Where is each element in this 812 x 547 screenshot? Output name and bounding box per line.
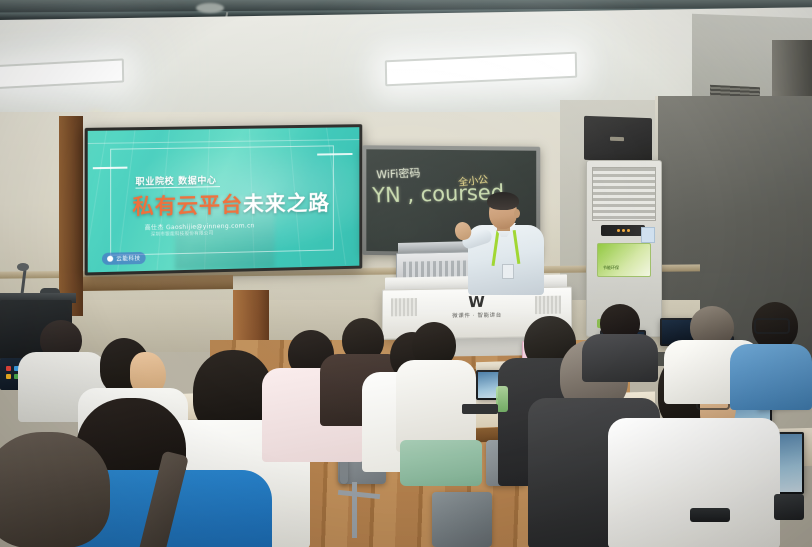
slide-title: 私有云平台未来之路 bbox=[132, 187, 329, 221]
mouse-area bbox=[690, 508, 730, 522]
ac-side-sticker bbox=[641, 227, 655, 243]
wall-speaker bbox=[584, 116, 652, 162]
slide-title-orange: 私有云平台 bbox=[132, 193, 242, 219]
shorts bbox=[400, 440, 482, 486]
slide-dash-right bbox=[317, 153, 352, 156]
presenter-badge bbox=[502, 264, 514, 279]
desk-device bbox=[774, 494, 804, 520]
presenter-hair bbox=[487, 192, 519, 210]
presenter-ear bbox=[514, 209, 520, 218]
chalk-text-wifi-label: WiFi密码 bbox=[376, 165, 421, 183]
torso bbox=[608, 418, 780, 547]
cabinet-microphone-head-icon bbox=[17, 263, 29, 271]
keyboard bbox=[462, 404, 498, 414]
wood-column-left bbox=[59, 116, 83, 316]
slide-logo: 云能科技 bbox=[102, 252, 146, 265]
chalk-text-wifi-password: YN , coursed bbox=[372, 180, 505, 207]
ac-grille-icon bbox=[592, 167, 656, 221]
slide-logo-mark-icon bbox=[107, 256, 113, 262]
chair-foreground bbox=[432, 492, 492, 547]
ac-sticker-text: 节能环保 bbox=[603, 265, 619, 271]
ceiling-fixture-blob bbox=[196, 3, 224, 13]
glasses-icon bbox=[754, 318, 790, 334]
slide-logo-text: 云能科技 bbox=[116, 254, 140, 263]
classroom-photo: 职业院校 数据中心 私有云平台未来之路 高仕杰 Gaoshijie@yinnen… bbox=[0, 0, 812, 547]
torso bbox=[730, 344, 812, 410]
slide-title-white: 未来之路 bbox=[243, 191, 330, 217]
projection-screen-frame: 职业院校 数据中心 私有云平台未来之路 高仕杰 Gaoshijie@yinnen… bbox=[85, 124, 363, 275]
ac-energy-sticker: 节能环保 bbox=[597, 243, 651, 277]
slide-dash-left bbox=[93, 167, 128, 170]
speaker-brand-label bbox=[610, 137, 624, 141]
ac-display-panel bbox=[601, 225, 645, 236]
wood-ledge bbox=[83, 275, 233, 291]
projection-screen: 职业院校 数据中心 私有云平台未来之路 高仕杰 Gaoshijie@yinnen… bbox=[88, 127, 360, 272]
torso bbox=[582, 334, 658, 382]
head bbox=[0, 432, 110, 547]
